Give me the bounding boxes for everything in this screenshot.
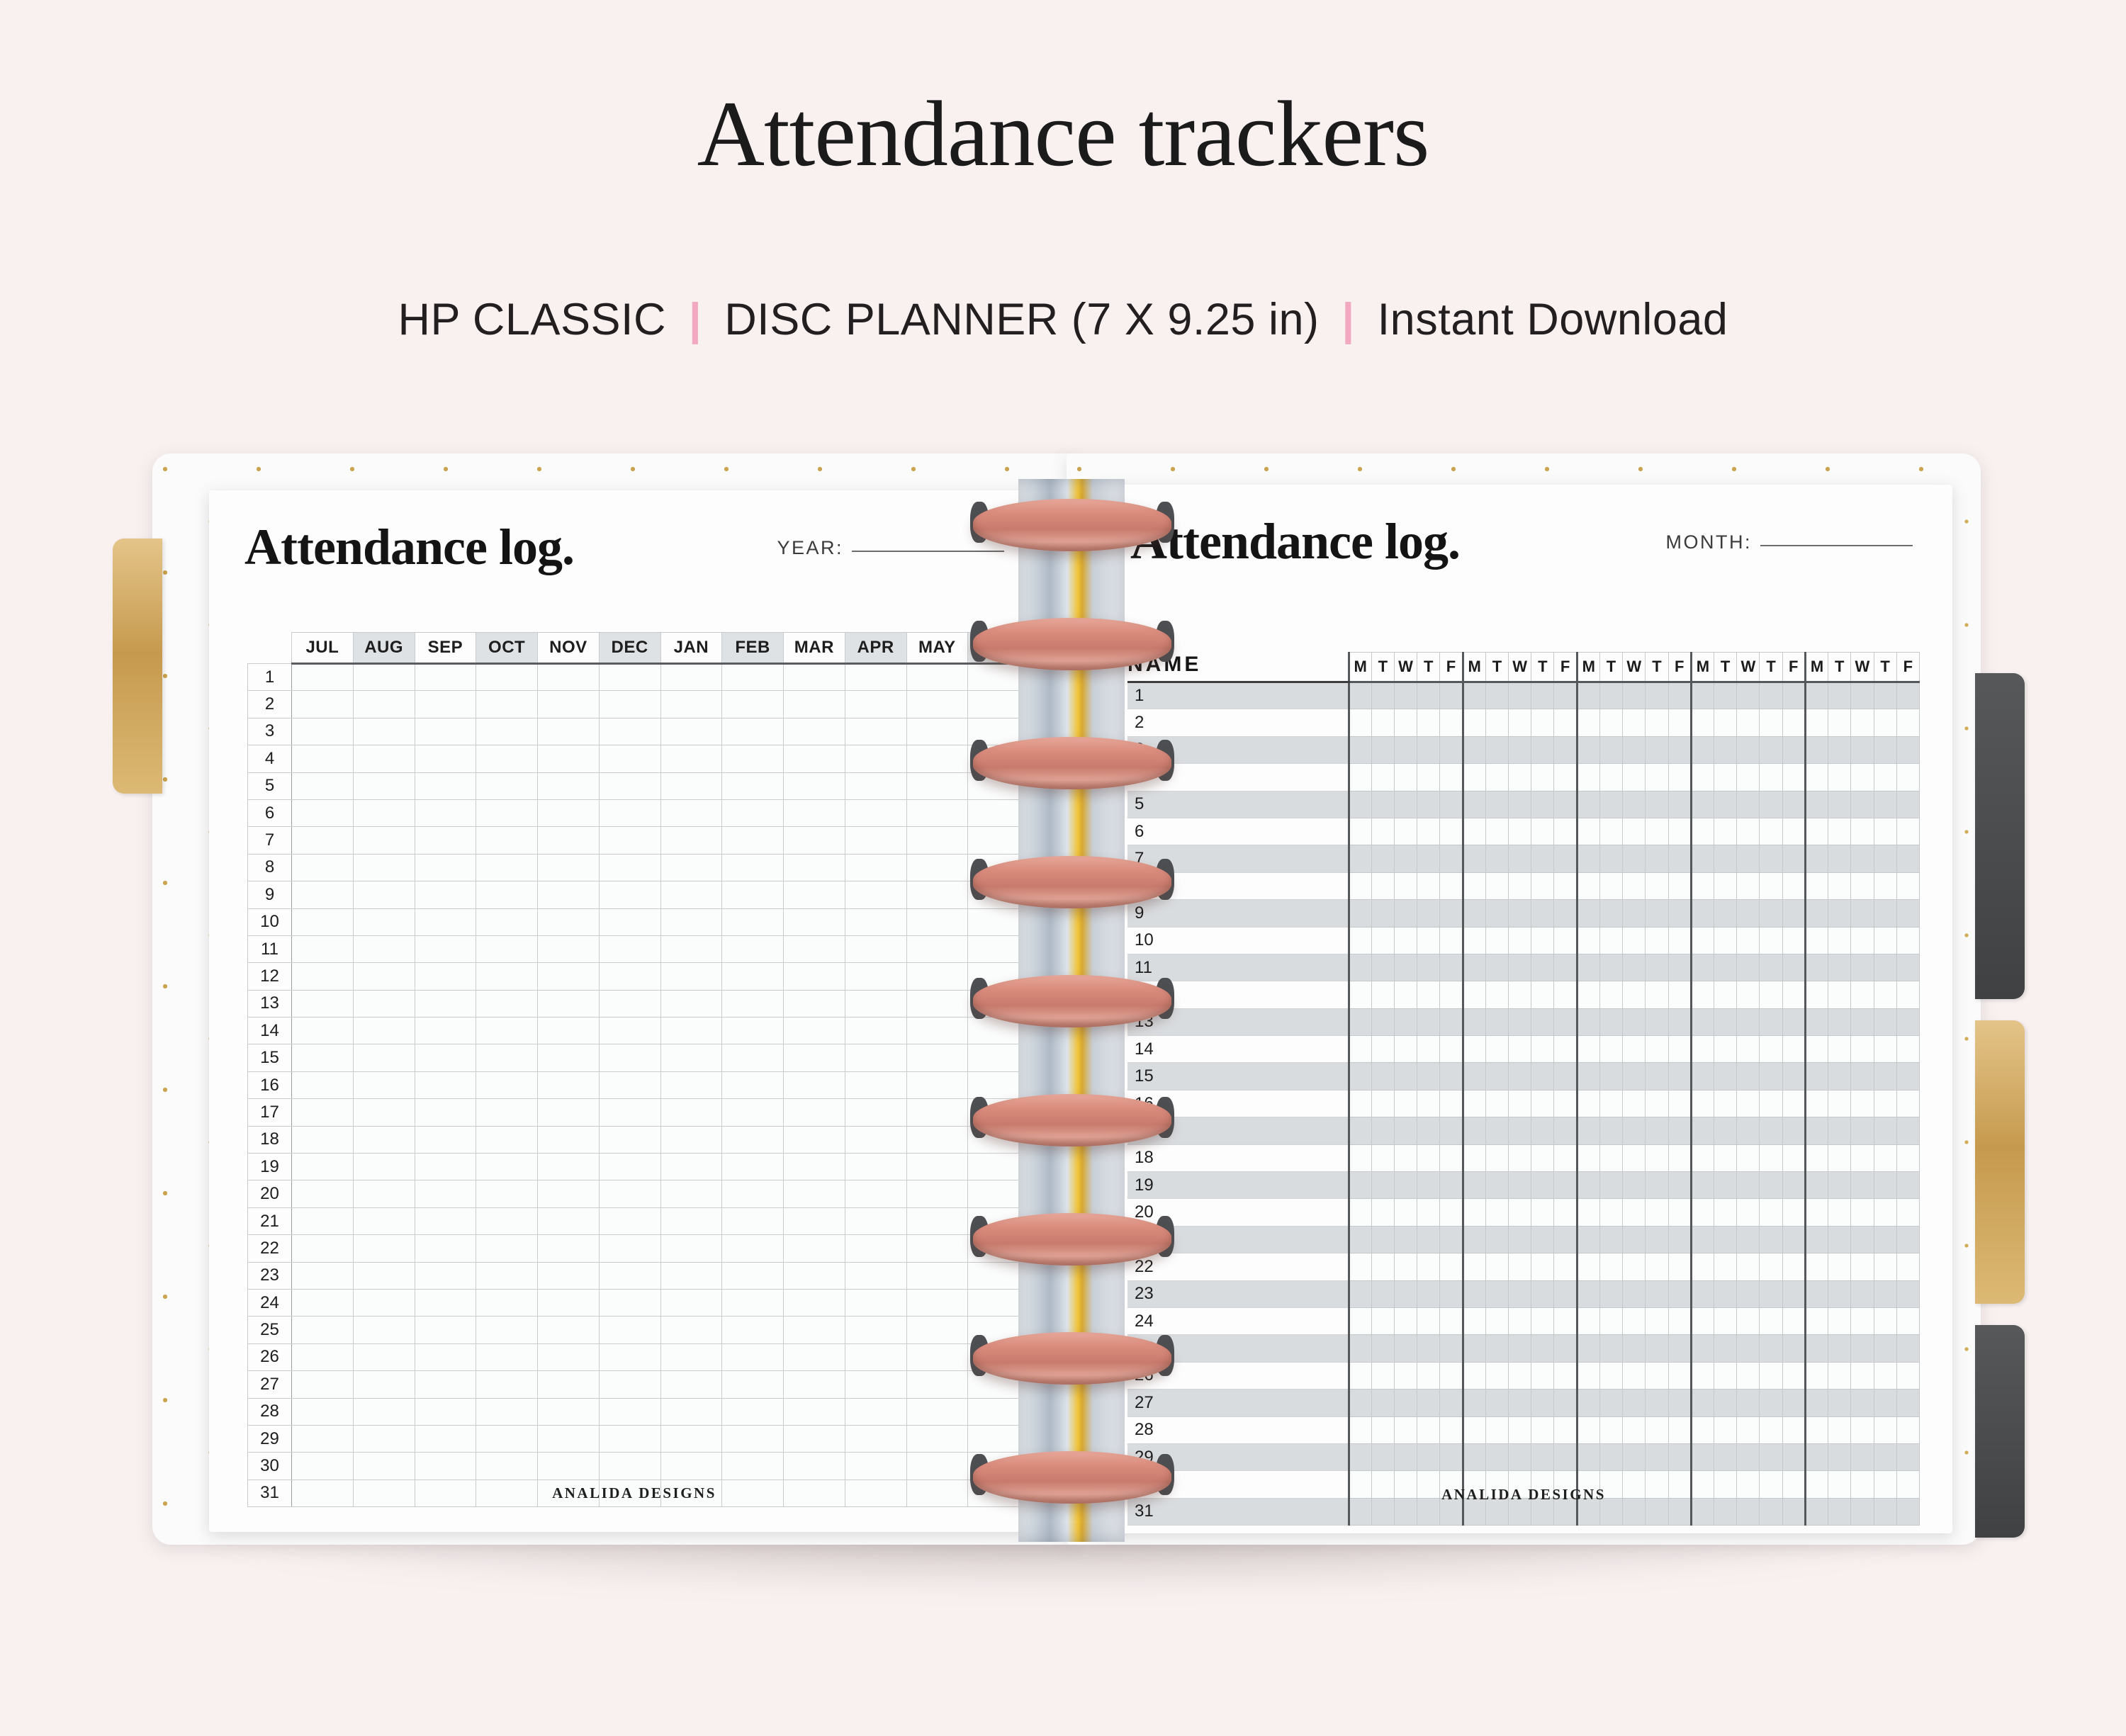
month-attendance-cell[interactable] — [1531, 736, 1554, 763]
month-attendance-cell[interactable] — [1691, 1443, 1714, 1470]
year-attendance-cell[interactable] — [722, 1235, 784, 1262]
year-attendance-cell[interactable] — [599, 1289, 660, 1316]
month-attendance-cell[interactable] — [1896, 1036, 1919, 1063]
year-attendance-cell[interactable] — [353, 718, 415, 745]
year-attendance-cell[interactable] — [538, 827, 600, 854]
month-attendance-cell[interactable] — [1874, 682, 1896, 709]
month-attendance-cell[interactable] — [1371, 818, 1394, 845]
month-attendance-cell[interactable] — [1714, 764, 1737, 791]
year-attendance-cell[interactable] — [845, 935, 906, 962]
year-attendance-cell[interactable] — [538, 799, 600, 826]
name-row-cell[interactable]: 23 — [1127, 1280, 1349, 1307]
month-attendance-cell[interactable] — [1851, 736, 1874, 763]
month-attendance-cell[interactable] — [1509, 1253, 1531, 1280]
month-attendance-cell[interactable] — [1509, 1117, 1531, 1144]
month-attendance-cell[interactable] — [1737, 1307, 1760, 1334]
month-attendance-cell[interactable] — [1349, 872, 1371, 899]
month-attendance-cell[interactable] — [1531, 900, 1554, 927]
month-attendance-cell[interactable] — [1371, 1253, 1394, 1280]
year-attendance-cell[interactable] — [599, 881, 660, 908]
month-attendance-cell[interactable] — [1463, 1362, 1485, 1389]
month-attendance-cell[interactable] — [1554, 736, 1577, 763]
year-attendance-cell[interactable] — [599, 1425, 660, 1452]
year-attendance-cell[interactable] — [784, 963, 845, 990]
month-attendance-cell[interactable] — [1531, 1443, 1554, 1470]
year-attendance-cell[interactable] — [784, 1343, 845, 1370]
year-attendance-cell[interactable] — [845, 963, 906, 990]
year-attendance-cell[interactable] — [722, 1262, 784, 1289]
month-attendance-cell[interactable] — [1485, 764, 1508, 791]
month-attendance-cell[interactable] — [1463, 845, 1485, 872]
month-attendance-cell[interactable] — [1896, 872, 1919, 899]
month-attendance-cell[interactable] — [1896, 1443, 1919, 1470]
month-attendance-cell[interactable] — [1668, 1008, 1691, 1035]
year-attendance-cell[interactable] — [660, 1071, 722, 1098]
month-attendance-cell[interactable] — [1782, 1362, 1805, 1389]
month-attendance-cell[interactable] — [1577, 954, 1599, 981]
month-attendance-cell[interactable] — [1714, 954, 1737, 981]
year-attendance-cell[interactable] — [476, 1398, 538, 1425]
month-attendance-cell[interactable] — [1782, 1443, 1805, 1470]
month-attendance-cell[interactable] — [1851, 1390, 1874, 1416]
year-attendance-cell[interactable] — [292, 854, 354, 881]
year-attendance-cell[interactable] — [599, 772, 660, 799]
month-attendance-cell[interactable] — [1828, 1226, 1851, 1253]
year-attendance-cell[interactable] — [538, 1289, 600, 1316]
month-attendance-cell[interactable] — [1646, 1226, 1668, 1253]
month-attendance-cell[interactable] — [1394, 1390, 1417, 1416]
year-attendance-cell[interactable] — [476, 935, 538, 962]
month-attendance-cell[interactable] — [1668, 1117, 1691, 1144]
year-attendance-cell[interactable] — [845, 1207, 906, 1234]
year-attendance-cell[interactable] — [476, 908, 538, 935]
month-attendance-cell[interactable] — [1554, 1172, 1577, 1199]
year-attendance-cell[interactable] — [415, 963, 476, 990]
year-attendance-cell[interactable] — [415, 718, 476, 745]
year-attendance-cell[interactable] — [660, 1099, 722, 1126]
month-attendance-cell[interactable] — [1691, 981, 1714, 1008]
month-attendance-cell[interactable] — [1691, 709, 1714, 736]
month-attendance-cell[interactable] — [1463, 1390, 1485, 1416]
month-attendance-cell[interactable] — [1349, 1008, 1371, 1035]
month-attendance-cell[interactable] — [1851, 1063, 1874, 1090]
year-attendance-cell[interactable] — [292, 772, 354, 799]
month-attendance-cell[interactable] — [1485, 1362, 1508, 1389]
year-attendance-cell[interactable] — [538, 691, 600, 718]
year-attendance-cell[interactable] — [906, 799, 968, 826]
month-attendance-cell[interactable] — [1805, 1090, 1828, 1117]
month-attendance-cell[interactable] — [1668, 1036, 1691, 1063]
month-attendance-cell[interactable] — [1874, 1226, 1896, 1253]
year-attendance-cell[interactable] — [415, 1018, 476, 1044]
month-attendance-cell[interactable] — [1440, 1362, 1463, 1389]
month-attendance-cell[interactable] — [1737, 764, 1760, 791]
month-attendance-cell[interactable] — [1760, 709, 1782, 736]
month-attendance-cell[interactable] — [1485, 1307, 1508, 1334]
month-attendance-cell[interactable] — [1485, 1144, 1508, 1171]
month-attendance-cell[interactable] — [1531, 764, 1554, 791]
year-attendance-cell[interactable] — [660, 1453, 722, 1479]
month-attendance-cell[interactable] — [1646, 682, 1668, 709]
month-attendance-cell[interactable] — [1668, 1063, 1691, 1090]
year-attendance-cell[interactable] — [660, 827, 722, 854]
year-attendance-cell[interactable] — [538, 745, 600, 772]
year-attendance-cell[interactable] — [476, 1317, 538, 1343]
year-attendance-cell[interactable] — [415, 1289, 476, 1316]
month-attendance-cell[interactable] — [1509, 1307, 1531, 1334]
year-attendance-cell[interactable] — [906, 1398, 968, 1425]
month-attendance-cell[interactable] — [1554, 1416, 1577, 1443]
month-attendance-cell[interactable] — [1349, 1390, 1371, 1416]
month-attendance-cell[interactable] — [1805, 845, 1828, 872]
month-attendance-cell[interactable] — [1782, 900, 1805, 927]
month-attendance-cell[interactable] — [1782, 682, 1805, 709]
month-attendance-cell[interactable] — [1737, 954, 1760, 981]
month-attendance-cell[interactable] — [1896, 1226, 1919, 1253]
month-attendance-cell[interactable] — [1531, 981, 1554, 1008]
month-attendance-cell[interactable] — [1668, 818, 1691, 845]
year-attendance-cell[interactable] — [353, 799, 415, 826]
month-attendance-cell[interactable] — [1577, 818, 1599, 845]
month-attendance-cell[interactable] — [1760, 764, 1782, 791]
month-attendance-cell[interactable] — [1509, 981, 1531, 1008]
year-attendance-cell[interactable] — [476, 1371, 538, 1398]
month-attendance-cell[interactable] — [1760, 1280, 1782, 1307]
month-attendance-cell[interactable] — [1394, 1090, 1417, 1117]
month-attendance-cell[interactable] — [1440, 900, 1463, 927]
month-attendance-cell[interactable] — [1554, 1280, 1577, 1307]
month-attendance-cell[interactable] — [1599, 1144, 1622, 1171]
month-attendance-cell[interactable] — [1691, 1144, 1714, 1171]
month-attendance-cell[interactable] — [1440, 1090, 1463, 1117]
month-attendance-cell[interactable] — [1760, 1307, 1782, 1334]
month-attendance-cell[interactable] — [1485, 1416, 1508, 1443]
month-attendance-cell[interactable] — [1599, 1199, 1622, 1226]
year-attendance-cell[interactable] — [784, 1425, 845, 1452]
year-attendance-cell[interactable] — [292, 1371, 354, 1398]
month-attendance-cell[interactable] — [1531, 1199, 1554, 1226]
month-attendance-cell[interactable] — [1737, 1226, 1760, 1253]
year-attendance-cell[interactable] — [784, 1018, 845, 1044]
month-attendance-cell[interactable] — [1737, 981, 1760, 1008]
month-attendance-cell[interactable] — [1394, 1416, 1417, 1443]
month-attendance-cell[interactable] — [1599, 900, 1622, 927]
month-attendance-cell[interactable] — [1509, 1063, 1531, 1090]
month-attendance-cell[interactable] — [1599, 981, 1622, 1008]
month-attendance-cell[interactable] — [1805, 1144, 1828, 1171]
month-attendance-cell[interactable] — [1668, 927, 1691, 954]
month-attendance-cell[interactable] — [1349, 1307, 1371, 1334]
year-attendance-cell[interactable] — [906, 1343, 968, 1370]
year-attendance-cell[interactable] — [292, 664, 354, 691]
year-attendance-cell[interactable] — [784, 1453, 845, 1479]
month-attendance-cell[interactable] — [1394, 1172, 1417, 1199]
month-attendance-cell[interactable] — [1851, 1416, 1874, 1443]
month-attendance-cell[interactable] — [1394, 1226, 1417, 1253]
year-attendance-cell[interactable] — [415, 1126, 476, 1153]
month-attendance-cell[interactable] — [1646, 1036, 1668, 1063]
month-attendance-cell[interactable] — [1896, 845, 1919, 872]
year-attendance-cell[interactable] — [660, 1126, 722, 1153]
year-attendance-cell[interactable] — [538, 1425, 600, 1452]
month-attendance-cell[interactable] — [1531, 872, 1554, 899]
month-attendance-cell[interactable] — [1896, 818, 1919, 845]
month-attendance-cell[interactable] — [1896, 1008, 1919, 1035]
year-attendance-cell[interactable] — [599, 1398, 660, 1425]
month-attendance-cell[interactable] — [1509, 1172, 1531, 1199]
year-attendance-cell[interactable] — [538, 1044, 600, 1071]
month-attendance-cell[interactable] — [1509, 736, 1531, 763]
month-attendance-cell[interactable] — [1737, 791, 1760, 818]
year-attendance-cell[interactable] — [906, 1099, 968, 1126]
month-attendance-cell[interactable] — [1623, 1390, 1646, 1416]
month-attendance-cell[interactable] — [1805, 709, 1828, 736]
month-attendance-cell[interactable] — [1371, 682, 1394, 709]
month-attendance-cell[interactable] — [1417, 1090, 1440, 1117]
year-attendance-cell[interactable] — [476, 1071, 538, 1098]
month-attendance-cell[interactable] — [1737, 736, 1760, 763]
year-attendance-cell[interactable] — [784, 1044, 845, 1071]
year-attendance-cell[interactable] — [722, 1317, 784, 1343]
year-attendance-cell[interactable] — [722, 1207, 784, 1234]
month-attendance-cell[interactable] — [1485, 900, 1508, 927]
month-attendance-cell[interactable] — [1782, 1280, 1805, 1307]
year-attendance-cell[interactable] — [660, 1018, 722, 1044]
year-attendance-cell[interactable] — [722, 1099, 784, 1126]
year-attendance-cell[interactable] — [784, 1099, 845, 1126]
month-attendance-cell[interactable] — [1646, 981, 1668, 1008]
year-attendance-cell[interactable] — [660, 1180, 722, 1207]
month-attendance-cell[interactable] — [1714, 1390, 1737, 1416]
month-attendance-cell[interactable] — [1485, 981, 1508, 1008]
year-attendance-cell[interactable] — [599, 854, 660, 881]
month-attendance-cell[interactable] — [1509, 954, 1531, 981]
year-attendance-cell[interactable] — [476, 1289, 538, 1316]
month-attendance-cell[interactable] — [1531, 1226, 1554, 1253]
month-attendance-cell[interactable] — [1828, 1390, 1851, 1416]
month-attendance-cell[interactable] — [1851, 1144, 1874, 1171]
month-attendance-cell[interactable] — [1349, 736, 1371, 763]
month-attendance-cell[interactable] — [1531, 1117, 1554, 1144]
month-attendance-cell[interactable] — [1463, 872, 1485, 899]
year-attendance-cell[interactable] — [538, 1207, 600, 1234]
month-attendance-cell[interactable] — [1896, 1253, 1919, 1280]
month-attendance-cell[interactable] — [1577, 1307, 1599, 1334]
month-attendance-cell[interactable] — [1737, 1036, 1760, 1063]
month-attendance-cell[interactable] — [1874, 791, 1896, 818]
month-attendance-cell[interactable] — [1577, 736, 1599, 763]
year-attendance-cell[interactable] — [353, 1425, 415, 1452]
year-attendance-cell[interactable] — [599, 745, 660, 772]
month-attendance-cell[interactable] — [1554, 1117, 1577, 1144]
month-attendance-cell[interactable] — [1349, 1416, 1371, 1443]
year-attendance-cell[interactable] — [538, 1453, 600, 1479]
year-attendance-cell[interactable] — [660, 1343, 722, 1370]
month-attendance-cell[interactable] — [1440, 764, 1463, 791]
month-field[interactable]: MONTH: — [1666, 531, 1913, 553]
month-attendance-cell[interactable] — [1349, 1199, 1371, 1226]
month-attendance-cell[interactable] — [1691, 1335, 1714, 1362]
year-attendance-cell[interactable] — [722, 1371, 784, 1398]
month-attendance-cell[interactable] — [1646, 1008, 1668, 1035]
month-attendance-cell[interactable] — [1805, 1117, 1828, 1144]
month-attendance-cell[interactable] — [1714, 818, 1737, 845]
month-attendance-cell[interactable] — [1623, 1307, 1646, 1334]
month-attendance-cell[interactable] — [1531, 1307, 1554, 1334]
month-attendance-cell[interactable] — [1371, 791, 1394, 818]
month-attendance-cell[interactable] — [1599, 1036, 1622, 1063]
month-attendance-cell[interactable] — [1599, 1390, 1622, 1416]
month-attendance-cell[interactable] — [1646, 1362, 1668, 1389]
month-attendance-cell[interactable] — [1349, 1280, 1371, 1307]
name-row-cell[interactable]: 19 — [1127, 1172, 1349, 1199]
year-attendance-cell[interactable] — [415, 1044, 476, 1071]
month-attendance-cell[interactable] — [1805, 1362, 1828, 1389]
month-attendance-cell[interactable] — [1599, 1443, 1622, 1470]
month-attendance-cell[interactable] — [1509, 1199, 1531, 1226]
month-attendance-cell[interactable] — [1577, 1416, 1599, 1443]
month-attendance-cell[interactable] — [1782, 1036, 1805, 1063]
month-attendance-cell[interactable] — [1782, 1416, 1805, 1443]
month-attendance-cell[interactable] — [1668, 954, 1691, 981]
month-attendance-cell[interactable] — [1828, 1172, 1851, 1199]
month-attendance-cell[interactable] — [1828, 1090, 1851, 1117]
month-attendance-cell[interactable] — [1760, 1117, 1782, 1144]
month-attendance-cell[interactable] — [1509, 1390, 1531, 1416]
year-attendance-cell[interactable] — [292, 799, 354, 826]
month-attendance-cell[interactable] — [1440, 1117, 1463, 1144]
month-attendance-cell[interactable] — [1554, 872, 1577, 899]
year-attendance-cell[interactable] — [845, 799, 906, 826]
month-attendance-cell[interactable] — [1554, 1390, 1577, 1416]
year-attendance-cell[interactable] — [538, 664, 600, 691]
month-attendance-cell[interactable] — [1874, 981, 1896, 1008]
month-attendance-cell[interactable] — [1737, 1090, 1760, 1117]
year-attendance-cell[interactable] — [906, 664, 968, 691]
year-attendance-cell[interactable] — [722, 1289, 784, 1316]
year-attendance-cell[interactable] — [845, 1180, 906, 1207]
month-attendance-cell[interactable] — [1737, 1172, 1760, 1199]
month-attendance-cell[interactable] — [1577, 900, 1599, 927]
year-attendance-cell[interactable] — [722, 1425, 784, 1452]
tab-divider-dark-bottom[interactable] — [1975, 1325, 2025, 1538]
month-attendance-cell[interactable] — [1623, 1335, 1646, 1362]
month-attendance-cell[interactable] — [1463, 764, 1485, 791]
month-attendance-cell[interactable] — [1623, 845, 1646, 872]
month-attendance-cell[interactable] — [1737, 872, 1760, 899]
month-attendance-cell[interactable] — [1851, 1335, 1874, 1362]
year-attendance-cell[interactable] — [784, 1371, 845, 1398]
month-attendance-cell[interactable] — [1371, 736, 1394, 763]
month-attendance-cell[interactable] — [1531, 1335, 1554, 1362]
month-attendance-cell[interactable] — [1623, 1036, 1646, 1063]
month-attendance-cell[interactable] — [1623, 872, 1646, 899]
month-attendance-cell[interactable] — [1577, 764, 1599, 791]
month-attendance-cell[interactable] — [1782, 927, 1805, 954]
year-attendance-cell[interactable] — [538, 1071, 600, 1098]
month-attendance-cell[interactable] — [1577, 1253, 1599, 1280]
month-attendance-cell[interactable] — [1349, 981, 1371, 1008]
month-attendance-cell[interactable] — [1554, 900, 1577, 927]
year-attendance-cell[interactable] — [538, 908, 600, 935]
month-attendance-cell[interactable] — [1691, 845, 1714, 872]
month-attendance-cell[interactable] — [1896, 791, 1919, 818]
year-attendance-cell[interactable] — [476, 1453, 538, 1479]
year-attendance-cell[interactable] — [660, 990, 722, 1017]
month-attendance-cell[interactable] — [1463, 682, 1485, 709]
month-attendance-cell[interactable] — [1874, 764, 1896, 791]
year-attendance-cell[interactable] — [292, 908, 354, 935]
year-attendance-cell[interactable] — [476, 1343, 538, 1370]
name-row-cell[interactable]: 14 — [1127, 1036, 1349, 1063]
month-attendance-cell[interactable] — [1851, 709, 1874, 736]
year-attendance-cell[interactable] — [415, 1099, 476, 1126]
month-attendance-cell[interactable] — [1760, 1063, 1782, 1090]
month-attendance-cell[interactable] — [1531, 954, 1554, 981]
month-attendance-cell[interactable] — [1646, 1063, 1668, 1090]
month-attendance-cell[interactable] — [1463, 900, 1485, 927]
month-attendance-cell[interactable] — [1440, 927, 1463, 954]
month-attendance-cell[interactable] — [1577, 1199, 1599, 1226]
month-attendance-cell[interactable] — [1646, 764, 1668, 791]
month-attendance-cell[interactable] — [1874, 927, 1896, 954]
month-attendance-cell[interactable] — [1417, 954, 1440, 981]
year-attendance-cell[interactable] — [722, 799, 784, 826]
year-attendance-cell[interactable] — [660, 1317, 722, 1343]
year-attendance-cell[interactable] — [845, 1317, 906, 1343]
month-attendance-cell[interactable] — [1874, 1008, 1896, 1035]
year-attendance-cell[interactable] — [476, 1018, 538, 1044]
year-attendance-cell[interactable] — [906, 827, 968, 854]
month-attendance-cell[interactable] — [1851, 845, 1874, 872]
year-attendance-cell[interactable] — [845, 1371, 906, 1398]
month-attendance-cell[interactable] — [1805, 1036, 1828, 1063]
year-attendance-cell[interactable] — [845, 1154, 906, 1180]
month-attendance-cell[interactable] — [1805, 872, 1828, 899]
year-attendance-cell[interactable] — [476, 718, 538, 745]
month-attendance-cell[interactable] — [1828, 872, 1851, 899]
month-attendance-cell[interactable] — [1896, 1307, 1919, 1334]
year-attendance-cell[interactable] — [476, 745, 538, 772]
month-attendance-cell[interactable] — [1371, 1117, 1394, 1144]
month-attendance-cell[interactable] — [1554, 981, 1577, 1008]
month-attendance-cell[interactable] — [1440, 818, 1463, 845]
month-attendance-cell[interactable] — [1577, 1144, 1599, 1171]
month-attendance-cell[interactable] — [1417, 1443, 1440, 1470]
month-attendance-cell[interactable] — [1440, 1443, 1463, 1470]
month-attendance-cell[interactable] — [1554, 1362, 1577, 1389]
month-attendance-cell[interactable] — [1485, 872, 1508, 899]
month-attendance-cell[interactable] — [1394, 954, 1417, 981]
month-attendance-cell[interactable] — [1668, 1172, 1691, 1199]
month-attendance-cell[interactable] — [1805, 736, 1828, 763]
month-attendance-cell[interactable] — [1371, 1008, 1394, 1035]
month-attendance-cell[interactable] — [1599, 927, 1622, 954]
year-attendance-cell[interactable] — [292, 1425, 354, 1452]
month-attendance-cell[interactable] — [1874, 1117, 1896, 1144]
month-attendance-cell[interactable] — [1485, 1253, 1508, 1280]
year-attendance-cell[interactable] — [415, 1425, 476, 1452]
year-attendance-cell[interactable] — [415, 881, 476, 908]
month-attendance-cell[interactable] — [1782, 1063, 1805, 1090]
year-attendance-cell[interactable] — [476, 1207, 538, 1234]
month-attendance-cell[interactable] — [1896, 1335, 1919, 1362]
year-attendance-cell[interactable] — [845, 718, 906, 745]
year-attendance-cell[interactable] — [845, 1289, 906, 1316]
month-attendance-cell[interactable] — [1554, 1090, 1577, 1117]
month-attendance-cell[interactable] — [1577, 845, 1599, 872]
name-row-cell[interactable]: 15 — [1127, 1063, 1349, 1090]
